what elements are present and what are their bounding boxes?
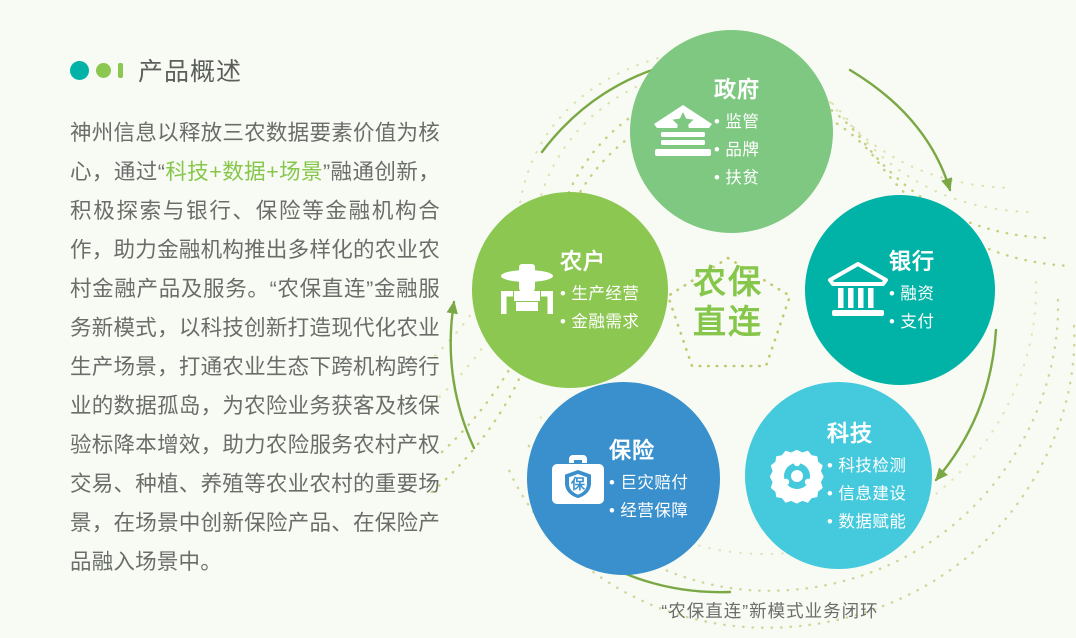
node-item: 支付 <box>889 308 935 336</box>
node-farmer-text: 农户 生产经营 金融需求 <box>560 244 639 336</box>
section-heading: 产品概述 <box>70 52 440 88</box>
node-title: 农户 <box>560 244 639 276</box>
overview-text-column: 产品概述 神州信息以释放三农数据要素价值为核心，通过“科技+数据+场景”融通创新… <box>70 52 440 582</box>
briefcase-shield-icon: 保 <box>547 449 609 509</box>
node-bank[interactable]: 银行 融资 支付 <box>805 195 995 385</box>
accent-dot-green-icon <box>96 63 111 78</box>
node-title: 政府 <box>714 72 760 104</box>
node-item: 监管 <box>714 108 760 136</box>
diagram-caption: “农保直连”新模式业务闭环 <box>580 598 960 623</box>
svg-text:保: 保 <box>570 476 586 492</box>
node-government[interactable]: 政府 监管 品牌 扶贫 <box>630 30 833 233</box>
node-title: 保险 <box>609 433 688 465</box>
node-insurance-text: 保险 巨灾赔付 经营保障 <box>609 433 688 525</box>
node-item: 科技检测 <box>827 452 906 480</box>
node-item: 融资 <box>889 280 935 308</box>
farmer-icon <box>494 261 560 319</box>
node-item: 信息建设 <box>827 480 906 508</box>
overview-paragraph: 神州信息以释放三农数据要素价值为核心，通过“科技+数据+场景”融通创新，积极探索… <box>70 114 440 582</box>
node-insurance[interactable]: 保 保险 巨灾赔付 经营保障 <box>527 382 720 575</box>
node-title: 银行 <box>889 244 935 276</box>
node-item: 经营保障 <box>609 497 688 525</box>
node-farmer[interactable]: 农户 生产经营 金融需求 <box>472 192 668 388</box>
business-loop-diagram: 政府 监管 品牌 扶贫 银行 融资 支付 <box>430 0 1076 638</box>
node-item: 扶贫 <box>714 164 760 192</box>
node-technology[interactable]: 科技 科技检测 信息建设 数据赋能 <box>745 382 932 569</box>
accent-dot-teal-icon <box>70 61 89 80</box>
center-label-line-1: 农保 <box>658 262 798 302</box>
page-title: 产品概述 <box>138 52 242 88</box>
node-title: 科技 <box>827 416 906 448</box>
node-item: 数据赋能 <box>827 508 906 536</box>
node-government-text: 政府 监管 品牌 扶贫 <box>714 72 760 192</box>
paragraph-part-2: ”融通创新，积极探索与银行、保险等金融机构合作，助力金融机构推出多样化的农业农村… <box>70 160 440 574</box>
node-technology-text: 科技 科技检测 信息建设 数据赋能 <box>827 416 906 536</box>
diagram-center-label: 农保 直连 <box>658 262 798 342</box>
node-bank-text: 银行 融资 支付 <box>889 244 935 336</box>
center-label-line-2: 直连 <box>658 302 798 342</box>
bank-columns-icon <box>827 262 889 318</box>
node-item: 品牌 <box>714 136 760 164</box>
paragraph-highlight: 科技+数据+场景 <box>165 160 323 184</box>
infographic-page: 产品概述 神州信息以释放三农数据要素价值为核心，通过“科技+数据+场景”融通创新… <box>0 0 1076 638</box>
accent-bar-icon <box>118 63 123 78</box>
gear-icon <box>767 446 827 506</box>
node-item: 金融需求 <box>560 308 639 336</box>
node-item: 生产经营 <box>560 280 639 308</box>
bank-star-icon <box>652 103 714 161</box>
node-item: 巨灾赔付 <box>609 469 688 497</box>
